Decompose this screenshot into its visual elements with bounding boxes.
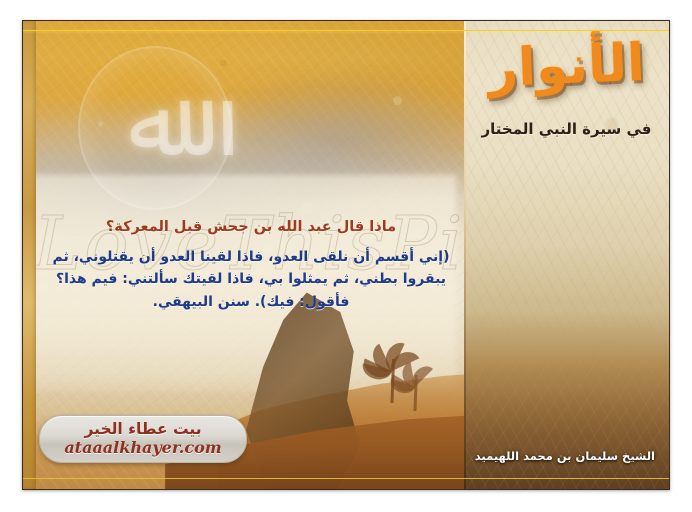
brand-website-url[interactable]: ataaalkhayer.com [64,439,221,457]
gold-rule-bottom [23,478,669,479]
cover-title-panel: الأنوار في سيرة النبي المختار [464,21,669,489]
brand-name-arabic: بيت عطاء الخير [84,421,201,438]
left-accent-band [23,21,36,489]
poster-frame: ﷲ LoveThisPic.com [22,20,670,490]
quote-block: ماذا قال عبد الله بن جحش قبل المعركة؟ (إ… [41,217,461,314]
quote-body-line-3: فأقول: فيك). سنن البيهقي. [41,291,461,314]
title-block: الأنوار في سيرة النبي المختار [464,39,669,138]
quote-body-line-2: يبقروا بطني، ثم يمثلوا بي، فاذا لقيتك سأ… [41,268,461,291]
brand-badge[interactable]: بيت عطاء الخير ataaalkhayer.com [39,415,247,463]
author-credit: الشيخ سليمان بن محمد اللهيميد [475,449,655,463]
quote-body-line-1: (إني أقسم أن نلقى العدو، فاذا لقينا العد… [41,246,461,269]
poster-root: ﷲ LoveThisPic.com [0,0,692,512]
page-title: الأنوار [464,35,669,97]
quote-question: ماذا قال عبد الله بن جحش قبل المعركة؟ [41,217,461,239]
page-subtitle: في سيرة النبي المختار [464,120,669,138]
gold-rule-top [23,30,669,31]
